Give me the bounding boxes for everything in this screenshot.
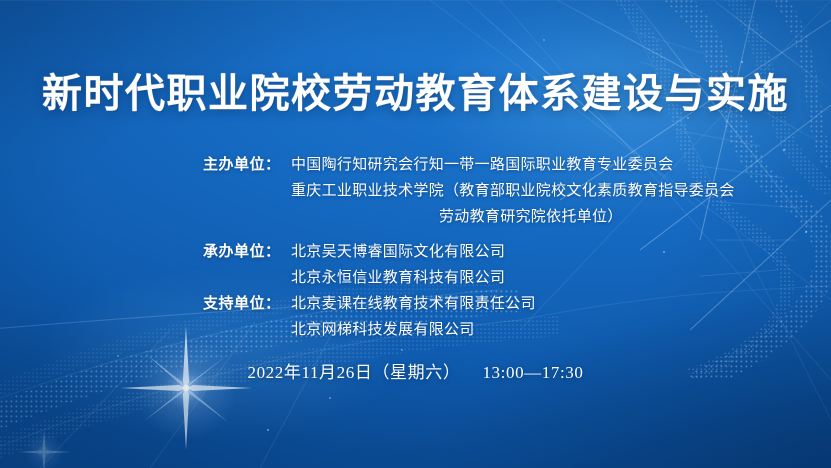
organizer-value-host-line1: 中国陶行知研究会行知一带一路国际职业教育专业委员会 [291,152,674,178]
organizer-row: 承办单位： 北京永恒信业教育科技有限公司 [0,265,831,291]
organizer-block: 主办单位： 中国陶行知研究会行知一带一路国际职业教育专业委员会 主办单位： 重庆… [0,152,831,343]
organizer-row: 支持单位： 北京网梯科技发展有限公司 [0,317,831,343]
organizer-row: 承办单位： 北京吴天博睿国际文化有限公司 [0,239,831,265]
organizer-value-host-line3: 劳动教育研究院依托单位） [439,204,623,230]
page-title: 新时代职业院校劳动教育体系建设与实施 [0,72,831,117]
organizer-row: 主办单位： 劳动教育研究院依托单位） [0,204,831,230]
event-datetime: 2022年11月26日（星期六）13:00—17:30 [0,358,831,383]
organizer-value-supporter-line2: 北京网梯科技发展有限公司 [291,317,475,343]
organizer-label-host: 主办单位： [203,152,291,178]
organizer-label-coorganizer: 承办单位： [203,239,291,265]
conference-banner: 新时代职业院校劳动教育体系建设与实施 主办单位： 中国陶行知研究会行知一带一路国… [0,0,831,468]
organizer-group-host: 主办单位： 中国陶行知研究会行知一带一路国际职业教育专业委员会 主办单位： 重庆… [0,152,831,230]
organizer-label-supporter: 支持单位： [203,291,291,317]
organizer-value-coorganizer-line2: 北京永恒信业教育科技有限公司 [291,265,505,291]
organizer-group-coorganizer: 承办单位： 北京吴天博睿国际文化有限公司 承办单位： 北京永恒信业教育科技有限公… [0,239,831,291]
organizer-value-host-line2: 重庆工业职业技术学院（教育部职业院校文化素质教育指导委员会 [291,178,735,204]
organizer-row: 支持单位： 北京麦课在线教育技术有限责任公司 [0,291,831,317]
organizer-group-supporter: 支持单位： 北京麦课在线教育技术有限责任公司 支持单位： 北京网梯科技发展有限公… [0,291,831,343]
organizer-row: 主办单位： 中国陶行知研究会行知一带一路国际职业教育专业委员会 [0,152,831,178]
organizer-value-coorganizer-line1: 北京吴天博睿国际文化有限公司 [291,239,505,265]
organizer-value-supporter-line1: 北京麦课在线教育技术有限责任公司 [291,291,536,317]
organizer-row: 主办单位： 重庆工业职业技术学院（教育部职业院校文化素质教育指导委员会 [0,178,831,204]
event-time: 13:00—17:30 [482,363,583,382]
event-date: 2022年11月26日（星期六） [247,363,460,382]
spacer [0,230,831,239]
